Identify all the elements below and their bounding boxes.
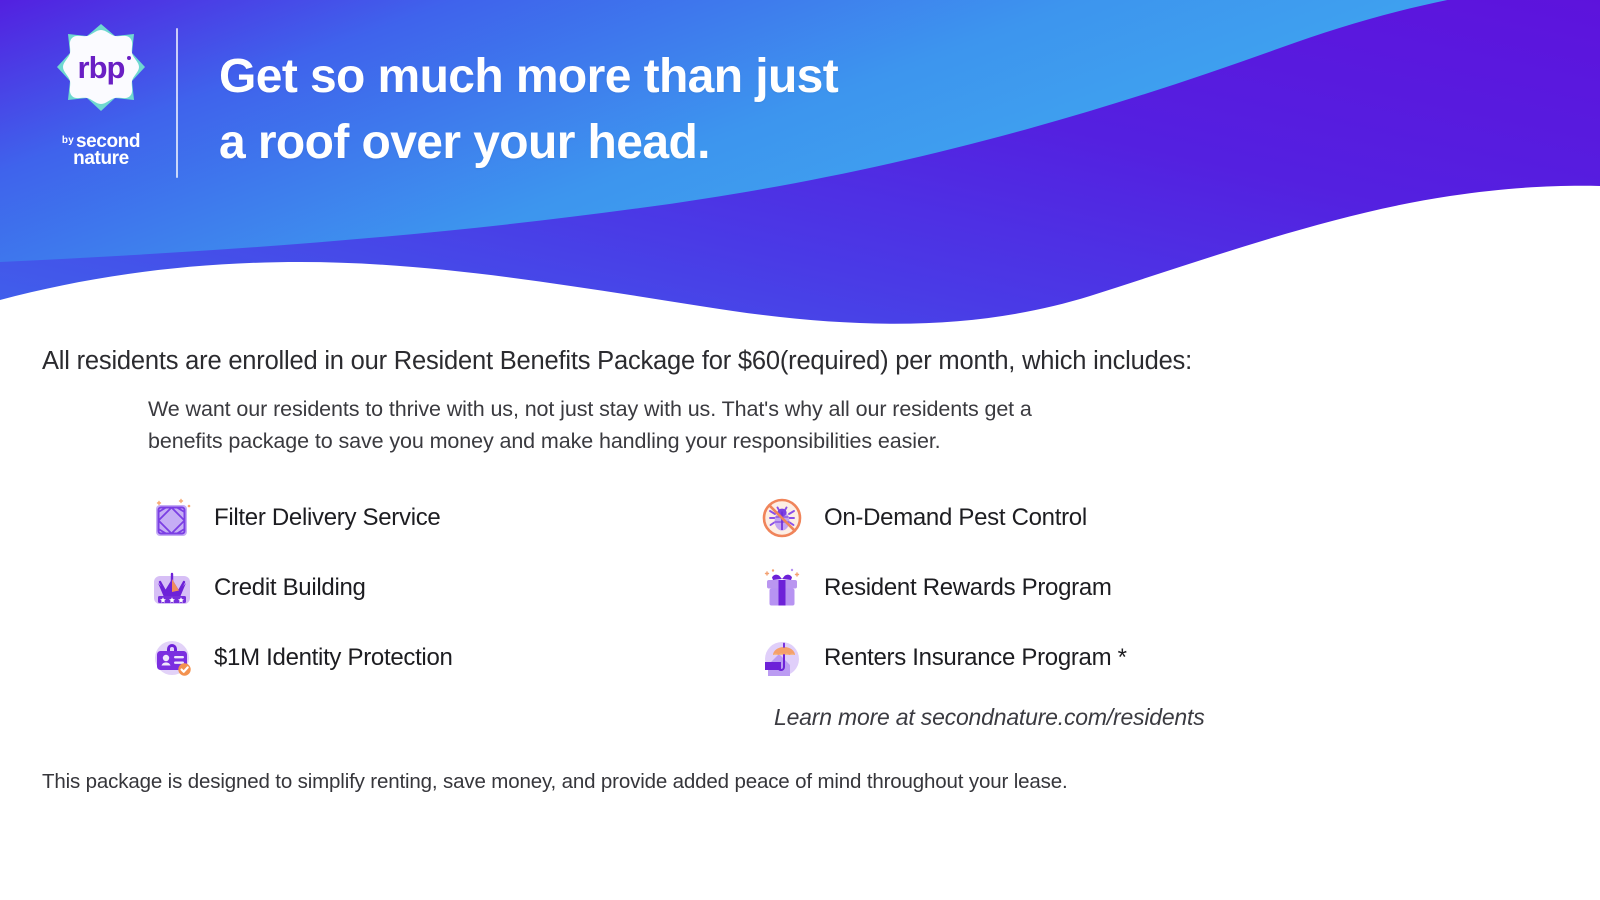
- benefit-label: Resident Rewards Program: [824, 574, 1112, 602]
- rbp-logo: rbp bysecond nature: [42, 22, 160, 177]
- benefit-label: $1M Identity Protection: [214, 644, 453, 672]
- marketing-flyer: rbp bysecond nature Get so much more tha…: [0, 0, 1600, 900]
- benefits-column-left: Filter Delivery Service: [148, 483, 453, 693]
- benefit-item-identity-protection: $1M Identity Protection: [148, 623, 453, 693]
- rosette-badge-icon: rbp: [49, 22, 153, 126]
- header-banner: rbp bysecond nature Get so much more tha…: [0, 0, 1600, 330]
- benefit-label: Filter Delivery Service: [214, 504, 440, 532]
- rbp-logo-mark: rbp: [49, 22, 153, 126]
- benefit-item-pest-control: On-Demand Pest Control: [758, 483, 1127, 553]
- air-filter-icon: [148, 494, 196, 542]
- gift-box-icon: [758, 564, 806, 612]
- learn-more-link[interactable]: Learn more at secondnature.com/residents: [774, 704, 1205, 731]
- benefit-label: On-Demand Pest Control: [824, 504, 1087, 532]
- benefit-label: Renters Insurance Program *: [824, 644, 1127, 672]
- intro-text: All residents are enrolled in our Reside…: [42, 347, 1192, 376]
- logo-nature-text: nature: [42, 149, 160, 168]
- benefits-column-right: On-Demand Pest Control: [758, 483, 1127, 693]
- page-headline: Get so much more than just a roof over y…: [219, 44, 838, 176]
- benefit-label: Credit Building: [214, 574, 366, 602]
- footnote-text: This package is designed to simplify ren…: [42, 770, 1068, 794]
- id-badge-check-icon: [148, 634, 196, 682]
- logo-byline: bysecond nature: [42, 132, 160, 168]
- logo-divider: [176, 28, 178, 178]
- benefit-item-filter-delivery: Filter Delivery Service: [148, 483, 453, 553]
- benefit-item-resident-rewards: Resident Rewards Program: [758, 553, 1127, 623]
- crown-stars-icon: [148, 564, 196, 612]
- subcopy-text: We want our residents to thrive with us,…: [148, 393, 1298, 458]
- logo-by-text: by: [62, 136, 74, 146]
- no-bug-icon: [758, 494, 806, 542]
- benefit-item-renters-insurance: Renters Insurance Program *: [758, 623, 1127, 693]
- rbp-wordmark: rbp: [78, 50, 125, 85]
- benefit-item-credit-building: Credit Building: [148, 553, 453, 623]
- umbrella-house-icon: [758, 634, 806, 682]
